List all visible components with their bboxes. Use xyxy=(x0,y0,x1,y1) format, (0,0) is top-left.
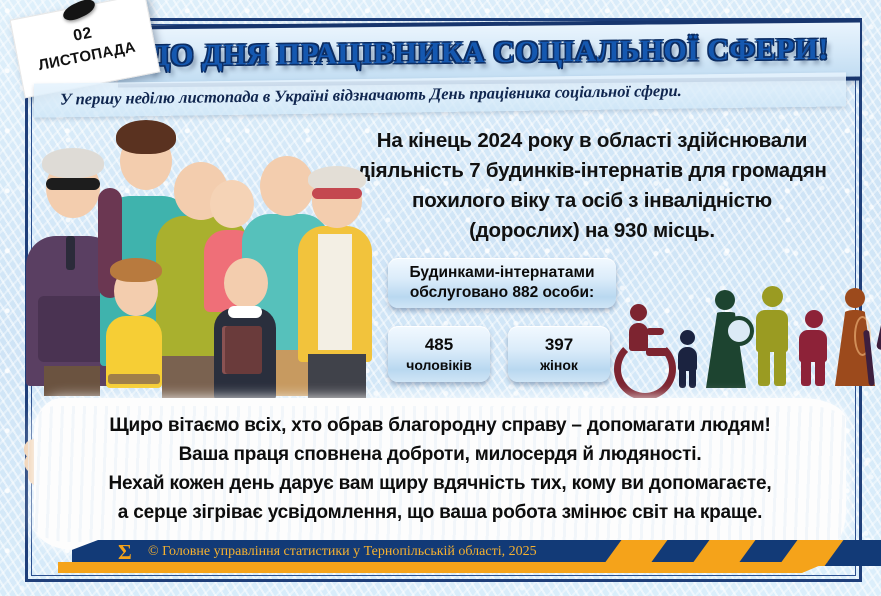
ribbon-gold-band xyxy=(58,562,828,573)
picto-head xyxy=(845,288,865,308)
women-count-label: жінок xyxy=(540,356,578,374)
family-group-illustration xyxy=(22,118,352,388)
aunt-head xyxy=(260,156,314,216)
greeting-line: Ваша праця сповнена доброти, милосердя й… xyxy=(40,441,840,470)
picto-leg xyxy=(801,360,811,386)
greeting-line: Нехай кожен день дарує вам щиру вдячніст… xyxy=(40,470,840,499)
date-day: 02 xyxy=(72,26,94,45)
women-count-value: 397 xyxy=(545,334,573,356)
date-month: ЛИСТОПАДА xyxy=(37,39,137,75)
served-total-badge: Будинками-інтернатами обслуговано 882 ос… xyxy=(388,258,616,308)
picto-leg xyxy=(815,360,825,386)
elderly-with-cane-pictogram xyxy=(874,290,881,386)
grandfather-trousers xyxy=(44,366,100,396)
boy-hair xyxy=(110,258,162,282)
picto-head xyxy=(715,290,735,310)
adult-pictogram xyxy=(752,286,790,386)
baby-icon xyxy=(724,316,754,346)
boy-belt xyxy=(108,374,160,384)
men-count-value: 485 xyxy=(425,334,453,356)
picto-leg xyxy=(689,370,696,388)
main-statement-line: (дорослих) на 930 місць. xyxy=(322,216,862,245)
wheelchair-user-pictogram xyxy=(612,304,674,382)
footer-credit: © Головне управління статистики у Терноп… xyxy=(148,544,537,560)
picto-head xyxy=(762,286,783,307)
served-line-1: Будинками-інтернатами xyxy=(410,263,595,283)
picto-leg xyxy=(679,370,686,388)
small-girl-head xyxy=(210,180,254,228)
footer-ribbon: Σ © Головне управління статистики у Терн… xyxy=(0,532,881,578)
grandfather-hair xyxy=(42,148,104,178)
picto-arm xyxy=(646,328,664,335)
paper-clip-icon xyxy=(60,0,97,24)
grandmother-blouse xyxy=(318,234,352,350)
schoolgirl-head xyxy=(224,258,268,308)
sigma-logo-icon: Σ xyxy=(118,542,132,563)
book-icon xyxy=(222,326,262,374)
men-count-badge: 485 чоловіків xyxy=(388,326,490,382)
picto-head xyxy=(805,310,823,328)
grandfather-vest xyxy=(38,296,106,362)
picto-torso xyxy=(876,308,881,355)
men-count-label: чоловіків xyxy=(406,356,472,374)
grandmother-glasses-icon xyxy=(312,188,362,199)
wheelchair-wheel-icon xyxy=(614,338,676,400)
father-hair xyxy=(116,120,176,154)
main-statement: На кінець 2024 року в області здійснювал… xyxy=(322,126,862,246)
main-statement-line: На кінець 2024 року в області здійснювал… xyxy=(322,126,862,155)
grandfather-glasses-icon xyxy=(46,178,100,190)
picto-leg xyxy=(774,350,786,386)
women-count-badge: 397 жінок xyxy=(508,326,610,382)
mother-with-baby-pictogram xyxy=(704,290,748,386)
greeting-line: а серце зігріває усвідомлення, що ваша р… xyxy=(40,499,840,528)
served-line-2: обслуговано 882 особи: xyxy=(410,283,594,303)
picto-leg xyxy=(758,350,770,386)
greeting-line: Щиро вітаємо всіх, хто обрав благородну … xyxy=(40,412,840,441)
child-pictogram xyxy=(674,330,700,386)
main-statement-line: похилого віку та осіб з інвалідністю xyxy=(322,186,862,215)
greeting-block: Щиро вітаємо всіх, хто обрав благородну … xyxy=(40,412,840,528)
schoolgirl-collar xyxy=(228,306,262,318)
pictogram-group xyxy=(612,286,880,390)
picto-torso xyxy=(678,347,697,371)
person-pictogram xyxy=(796,310,830,386)
picto-torso xyxy=(756,310,788,352)
picto-torso xyxy=(799,330,827,362)
grandmother-skirt xyxy=(308,354,366,398)
grandfather-tie xyxy=(66,236,75,270)
main-statement-line: діяльність 7 будинків-інтернатів для гро… xyxy=(322,156,862,185)
page-title: ДО ДНЯ ПРАЦІВНИКА СОЦІАЛЬНОЇ СФЕРИ! xyxy=(149,33,829,74)
picto-head xyxy=(630,304,647,321)
picto-head xyxy=(680,330,695,345)
infographic-poster: ДО ДНЯ ПРАЦІВНИКА СОЦІАЛЬНОЇ СФЕРИ! 02 Л… xyxy=(0,0,881,596)
